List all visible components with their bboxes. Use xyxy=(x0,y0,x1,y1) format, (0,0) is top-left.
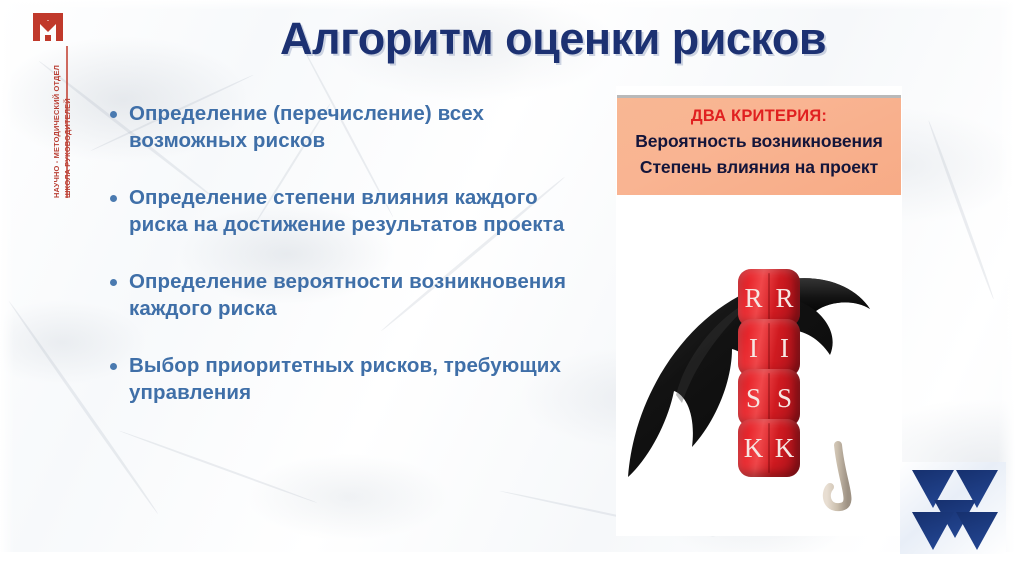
brand-vertical-text-2: ШКОЛА РУКОВОДИТЕЛЕЙ xyxy=(63,98,72,198)
criteria-heading: ДВА КРИТЕРИЯ: xyxy=(617,107,901,126)
risk-cube-letter-left: K xyxy=(738,419,769,477)
risk-cube: K K xyxy=(738,419,800,477)
bullet-dot-icon xyxy=(110,111,117,118)
five-triangles-logo-icon xyxy=(898,458,1008,558)
brand-block: НАУЧНО - МЕТОДИЧЕСКИЙ ОТДЕЛ ШКОЛА РУКОВО… xyxy=(26,8,76,198)
left-edge-fade xyxy=(0,0,14,552)
list-item-label: Определение вероятности возникновения ка… xyxy=(129,268,600,322)
list-item: Выбор приоритетных рисков, требующих упр… xyxy=(110,352,600,406)
criteria-callout-box: ДВА КРИТЕРИЯ: Вероятность возникновения … xyxy=(617,95,901,195)
bullet-dot-icon xyxy=(110,279,117,286)
cube-seam xyxy=(768,423,770,473)
list-item: Определение степени влияния каждого риск… xyxy=(110,184,600,238)
cube-seam xyxy=(768,273,770,323)
list-item: Определение (перечисление) всех возможны… xyxy=(110,100,600,154)
slide-canvas: НАУЧНО - МЕТОДИЧЕСКИЙ ОТДЕЛ ШКОЛА РУКОВО… xyxy=(0,0,1024,574)
cube-seam xyxy=(768,373,770,423)
criteria-line-2: Степень влияния на проект xyxy=(617,157,901,178)
letter-m-logo-icon xyxy=(30,10,66,44)
list-item: Определение вероятности возникновения ка… xyxy=(110,268,600,322)
criteria-line-1: Вероятность возникновения xyxy=(617,131,901,152)
list-item-label: Выбор приоритетных рисков, требующих упр… xyxy=(129,352,600,406)
bullet-dot-icon xyxy=(110,195,117,202)
bullet-list: Определение (перечисление) всех возможны… xyxy=(110,100,600,436)
brand-vertical-text-1: НАУЧНО - МЕТОДИЧЕСКИЙ ОТДЕЛ xyxy=(52,65,61,198)
top-edge-fade xyxy=(0,0,1024,10)
bottom-margin xyxy=(0,552,1024,574)
list-item-label: Определение (перечисление) всех возможны… xyxy=(129,100,600,154)
list-item-label: Определение степени влияния каждого риск… xyxy=(129,184,600,238)
risk-cube-letter-right: K xyxy=(769,419,800,477)
page-title: Алгоритм оценки рисков xyxy=(178,13,928,65)
cube-seam xyxy=(768,323,770,373)
umbrella-risk-artwork: R R I I S S K K xyxy=(616,245,902,535)
bullet-dot-icon xyxy=(110,363,117,370)
